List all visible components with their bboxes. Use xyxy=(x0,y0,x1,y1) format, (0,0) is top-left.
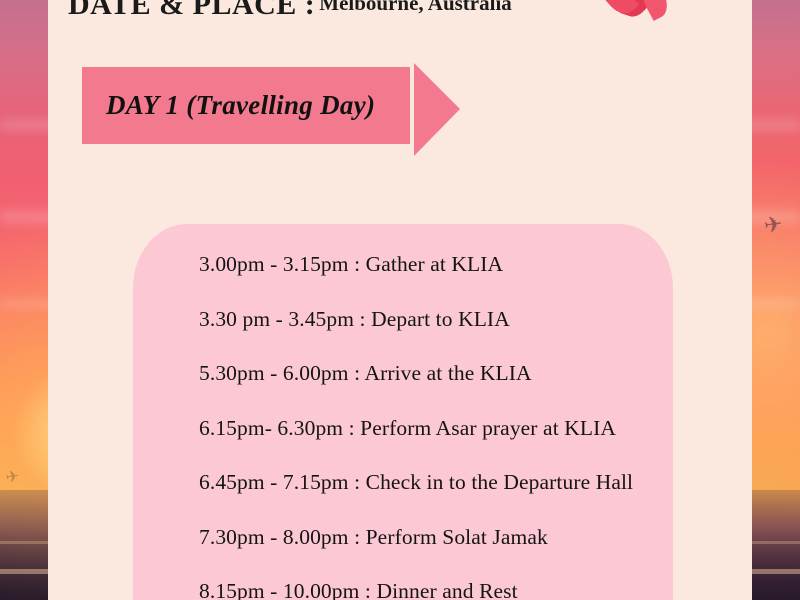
schedule-item: 6.15pm- 6.30pm : Perform Asar prayer at … xyxy=(199,418,653,440)
schedule-item: 3.30 pm - 3.45pm : Depart to KLIA xyxy=(199,309,653,331)
schedule-item: 6.45pm - 7.15pm : Check in to the Depart… xyxy=(199,472,653,494)
airplane-icon: ✈ xyxy=(5,469,21,487)
content-panel: DATE & PLACE : Melbourne, Australia Hari… xyxy=(48,0,752,600)
floral-decoration: Hari xyxy=(592,0,712,32)
airplane-icon: ✈ xyxy=(762,213,783,237)
day-banner-label: DAY 1 (Travelling Day) xyxy=(106,90,375,121)
banner-arrow-icon xyxy=(414,63,460,156)
schedule-list: 3.00pm - 3.15pm : Gather at KLIA3.30 pm … xyxy=(199,254,653,600)
header-lead-label: DATE & PLACE : xyxy=(68,0,315,21)
schedule-item: 8.15pm - 10.00pm : Dinner and Rest xyxy=(199,581,653,600)
header-line: DATE & PLACE : Melbourne, Australia xyxy=(68,0,512,22)
header-place-value: Melbourne, Australia xyxy=(319,0,512,15)
schedule-item: 5.30pm - 6.00pm : Arrive at the KLIA xyxy=(199,363,653,385)
schedule-card: 3.00pm - 3.15pm : Gather at KLIA3.30 pm … xyxy=(133,224,673,600)
day-banner: DAY 1 (Travelling Day) xyxy=(78,63,414,148)
schedule-item: 7.30pm - 8.00pm : Perform Solat Jamak xyxy=(199,527,653,549)
schedule-item: 3.00pm - 3.15pm : Gather at KLIA xyxy=(199,254,653,276)
